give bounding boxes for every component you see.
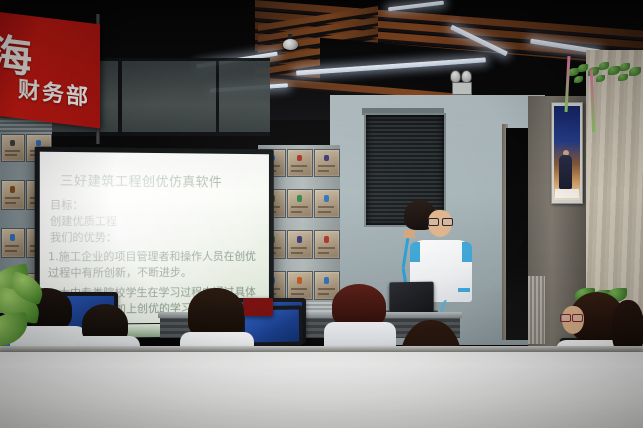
spotlight-housing <box>452 82 472 95</box>
laptop <box>389 282 433 313</box>
doorway <box>506 128 528 340</box>
audience-member <box>82 300 134 352</box>
audience-member <box>182 288 252 352</box>
foreground-leaf <box>0 268 56 350</box>
radiator <box>528 276 545 344</box>
banner-department-text: 财务部 <box>18 78 90 111</box>
slide-line: 1.施工企业的项目管理者和操作人员在创优 <box>48 248 256 264</box>
slide-line: 创建优质工程 <box>50 213 117 229</box>
slide-line: 过程中有所创新，不断进步。 <box>48 264 192 281</box>
dome-camera-icon <box>283 39 298 50</box>
audience-member <box>330 284 392 346</box>
foreground-counter <box>0 352 643 428</box>
glasses-icon <box>428 218 452 224</box>
red-hanging-banner: 海 财务部 <box>0 12 100 129</box>
poster-figure <box>559 155 572 189</box>
presenter-neck <box>404 230 415 238</box>
slide-line: 我们的优势： <box>50 229 117 245</box>
slide-line: 目标： <box>50 196 84 212</box>
banner-partial-character: 海 <box>0 33 32 80</box>
slide-title: 三好建筑工程创优仿真软件 <box>60 170 222 190</box>
wall-poster <box>551 102 583 204</box>
poster-caption <box>555 189 579 198</box>
ivy-garland <box>566 56 643 86</box>
photo-scene: 海 财务部 三好建筑工程创优仿真软件 目标： 创建优质工程 我们的优势： 1.施… <box>0 0 643 428</box>
